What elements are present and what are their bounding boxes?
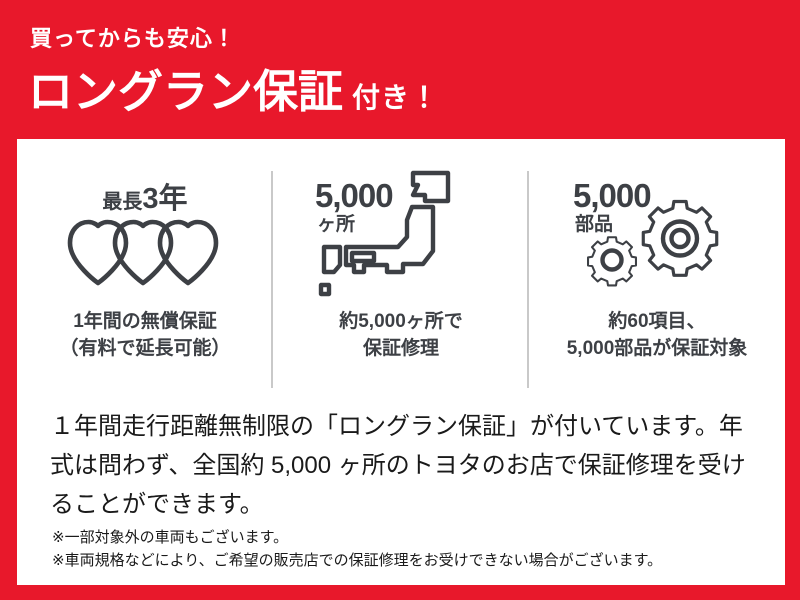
feature-service-locations: 5,000 ヶ所 <box>273 157 529 389</box>
feature-caption: 約60項目、 5,000部品が保証対象 <box>529 309 785 363</box>
headline-sub-text: 付き！ <box>352 84 439 112</box>
japan-map-icon <box>317 165 467 308</box>
long-run-warranty-banner: 買ってからも安心！ ロングラン保証 付き！ 最長3年 <box>0 0 800 600</box>
feature-columns: 最長3年 1年間の無償保証 （有料で延長可能） <box>17 157 785 389</box>
warranty-period-label: 最長3年 <box>17 185 273 214</box>
three-hearts-icon <box>65 215 225 292</box>
footnote-2: ※車両規格などにより、ご希望の販売店での保証修理をお受けできない場合がございます… <box>52 550 768 573</box>
footnote-1: ※一部対象外の車両もございます。 <box>52 527 768 550</box>
feature-figure: 5,000 部品 <box>529 157 785 307</box>
header-headline: ロングラン保証 付き！ <box>28 69 439 114</box>
feature-caption: 1年間の無償保証 （有料で延長可能） <box>17 309 273 363</box>
caption-line-2: （有料で延長可能） <box>17 336 273 363</box>
body-paragraph: １年間走行距離無制限の「ロングラン保証」が付いています。年式は問わず、全国約 5… <box>50 408 762 525</box>
caption-line-2: 5,000部品が保証対象 <box>529 336 785 363</box>
content-card: 最長3年 1年間の無償保証 （有料で延長可能） <box>17 139 785 585</box>
feature-figure: 最長3年 <box>17 157 273 307</box>
banner-header: 買ってからも安心！ ロングラン保証 付き！ <box>0 0 800 139</box>
footnotes: ※一部対象外の車両もございます。 ※車両規格などにより、ご希望の販売店での保証修… <box>52 527 768 573</box>
headline-main-text: ロングラン保証 <box>28 69 343 114</box>
feature-warranty-period: 最長3年 1年間の無償保証 （有料で延長可能） <box>17 157 273 389</box>
warranty-period-label-number: 3年 <box>142 183 187 215</box>
header-kicker: 買ってからも安心！ <box>30 28 236 50</box>
feature-caption: 約5,000ヶ所で 保証修理 <box>273 309 529 363</box>
caption-line-2: 保証修理 <box>273 336 529 363</box>
feature-covered-parts: 5,000 部品 <box>529 157 785 389</box>
caption-line-1: 約5,000ヶ所で <box>273 309 529 336</box>
gears-icon <box>577 185 737 305</box>
caption-line-1: 約60項目、 <box>529 309 785 336</box>
warranty-period-label-kanji: 最長 <box>102 191 142 213</box>
caption-line-1: 1年間の無償保証 <box>17 309 273 336</box>
feature-figure: 5,000 ヶ所 <box>273 157 529 307</box>
